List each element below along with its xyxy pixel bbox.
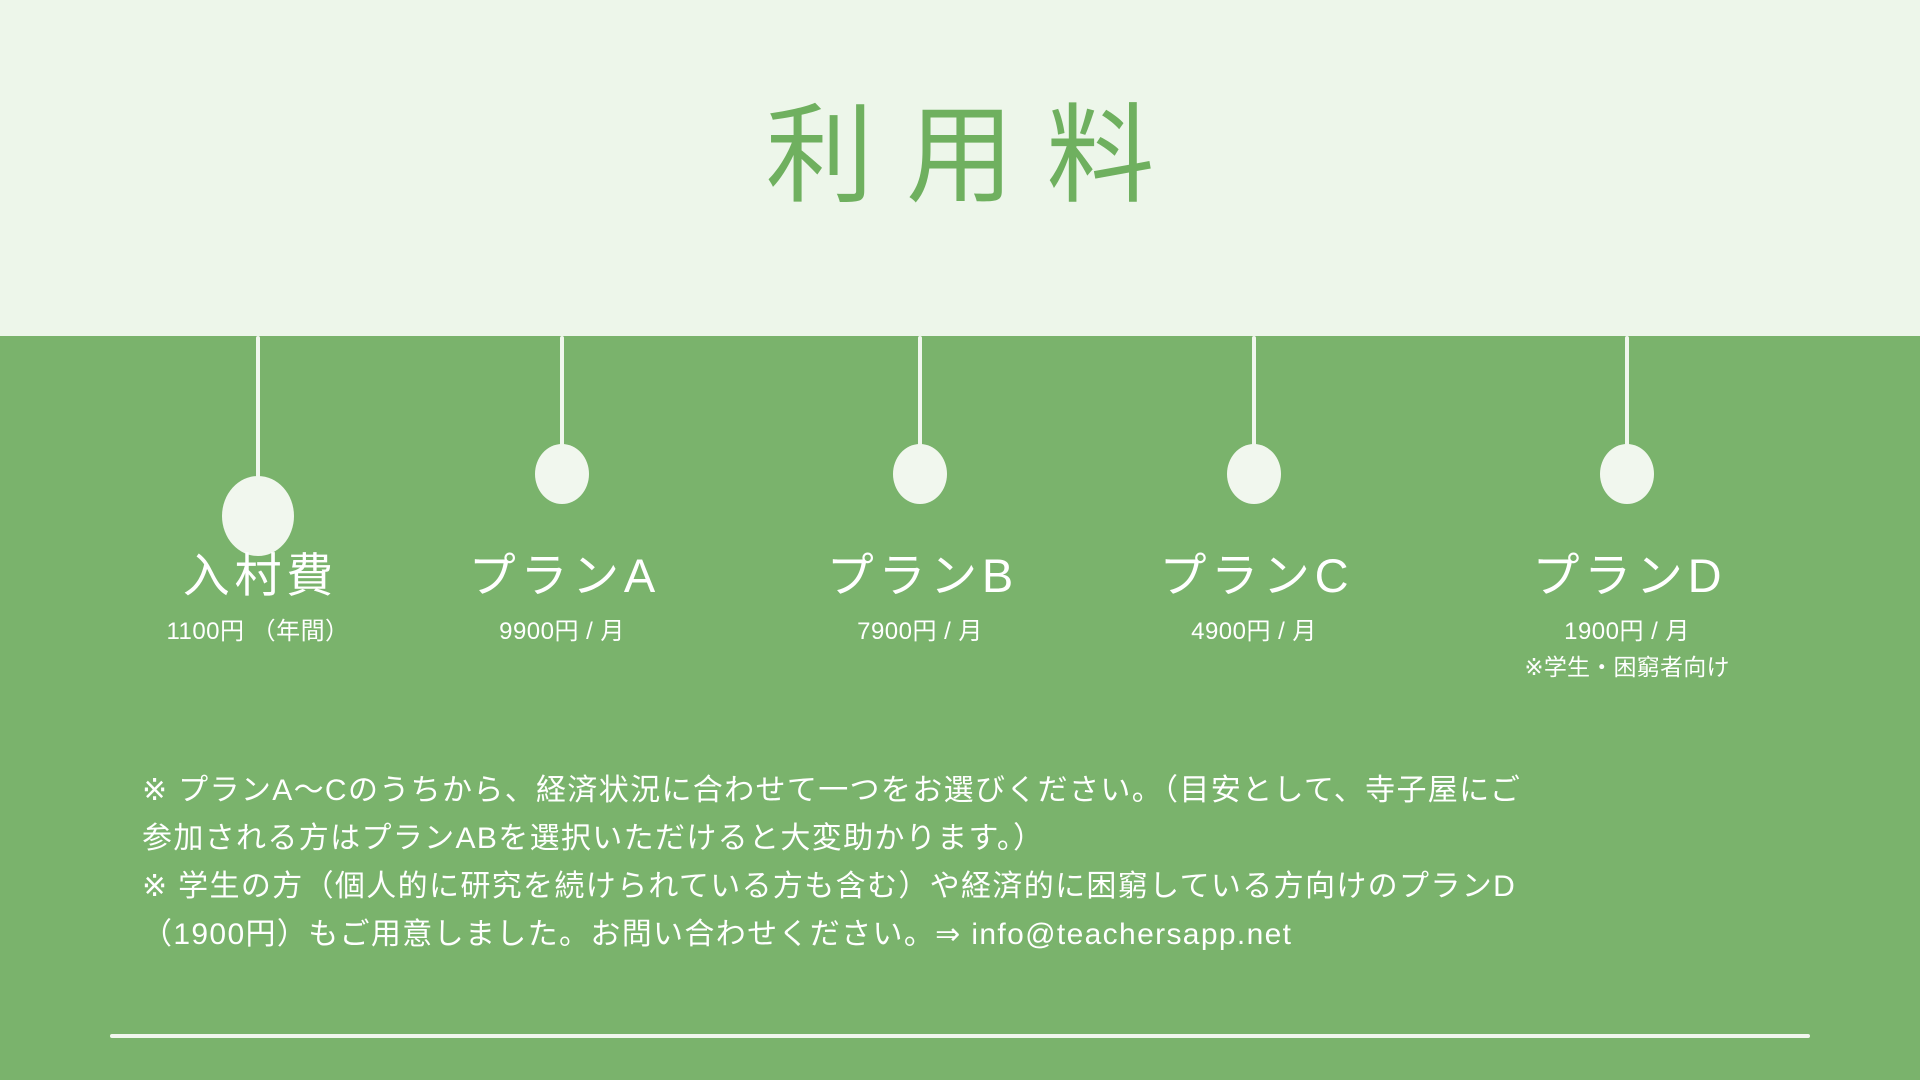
plan-note: ※学生・困窮者向け: [1427, 653, 1827, 682]
note-line-4-contact[interactable]: （1900円）もご用意しました。お問い合わせください。⇒ info@teache…: [142, 911, 1802, 959]
bottom-divider: [110, 1034, 1810, 1038]
plan-price: 1900円 / 月: [1427, 617, 1827, 647]
plan-item-a[interactable]: プランA 9900円 / 月: [362, 548, 762, 647]
notes-block: ※ プランA〜Cのうちから、経済状況に合わせて一つをお選びください。（目安として…: [142, 767, 1802, 959]
plan-price: 4900円 / 月: [1054, 617, 1454, 647]
plan-item-c[interactable]: プランC 4900円 / 月: [1054, 548, 1454, 647]
plan-name: プランC: [1054, 548, 1454, 603]
plan-name: プランD: [1427, 548, 1827, 603]
plan-item-d[interactable]: プランD 1900円 / 月 ※学生・困窮者向け: [1427, 548, 1827, 682]
plan-price: 9900円 / 月: [362, 617, 762, 647]
note-line-2: 参加される方はプランABを選択いただけると大変助かります。）: [142, 815, 1802, 863]
pricing-page: 利用料 入村費 1100円 （年間）: [0, 0, 1920, 1080]
note-line-1: ※ プランA〜Cのうちから、経済状況に合わせて一つをお選びください。（目安として…: [142, 767, 1802, 815]
note-line-3: ※ 学生の方（個人的に研究を続けられている方も含む）や経済的に困窮している方向け…: [142, 863, 1802, 911]
plan-name: プランA: [362, 548, 762, 603]
